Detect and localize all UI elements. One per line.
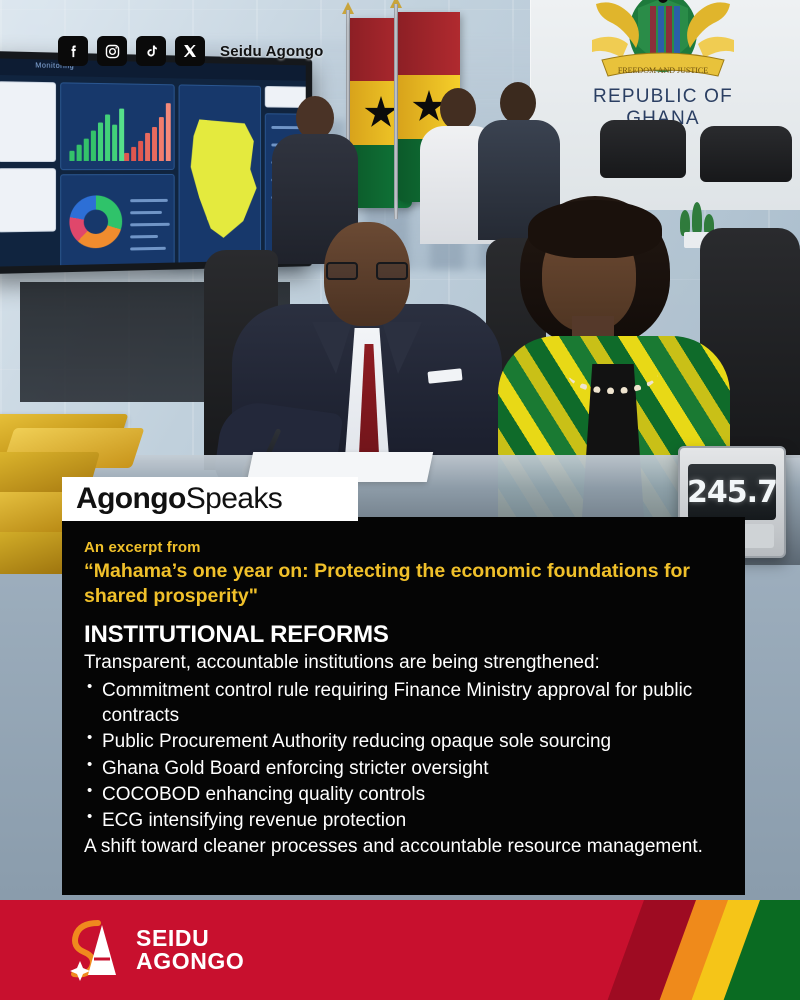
eyeglasses-icon xyxy=(326,262,408,280)
dashboard-donut-card xyxy=(60,174,175,268)
seidu-agongo-logo: SEIDU AGONGO xyxy=(58,916,378,984)
tiktok-glyph xyxy=(143,43,160,60)
donut-chart xyxy=(69,195,122,248)
list-item: Commitment control rule requiring Financ… xyxy=(84,678,723,729)
dashboard-side-card xyxy=(0,81,56,162)
x-twitter-icon[interactable] xyxy=(175,36,205,66)
instagram-icon[interactable] xyxy=(97,36,127,66)
x-glyph xyxy=(182,43,198,59)
back-chair-2 xyxy=(700,126,792,182)
closing-statement: A shift toward cleaner processes and acc… xyxy=(84,835,723,860)
brand-light: Speaks xyxy=(186,482,282,516)
content-panel: An excerpt from “Mahama’s one year on: P… xyxy=(62,517,745,895)
logo-svg xyxy=(58,919,126,981)
excerpt-title: “Mahama’s one year on: Protecting the ec… xyxy=(84,559,723,608)
meter-lcd: 245.7 xyxy=(688,464,776,520)
brand-bold: Agongo xyxy=(76,482,186,516)
reform-bullet-list: Commitment control rule requiring Financ… xyxy=(84,678,723,834)
logo-mark-icon xyxy=(58,919,126,981)
section-intro: Transparent, accountable institutions ar… xyxy=(84,651,723,676)
tiktok-icon[interactable] xyxy=(136,36,166,66)
list-item: ECG intensifying revenue protection xyxy=(84,808,723,833)
excerpt-label: An excerpt from xyxy=(84,539,723,556)
pearl-necklace xyxy=(568,354,658,394)
footer-bar: SEIDU AGONGO xyxy=(0,900,800,1000)
logo-line-2: AGONGO xyxy=(136,950,244,973)
agongo-speaks-banner: AgongoSpeaks xyxy=(62,477,358,521)
black-star-icon xyxy=(364,96,398,130)
instagram-glyph xyxy=(104,43,121,60)
svg-text:FREEDOM AND JUSTICE: FREEDOM AND JUSTICE xyxy=(618,66,708,75)
section-heading: INSTITUTIONAL REFORMS xyxy=(84,621,723,649)
social-bar: Seidu Agongo xyxy=(58,36,324,66)
dashboard-bar-card xyxy=(60,82,175,170)
meter-value: 245.7 xyxy=(687,475,777,510)
dashboard-side-card-2 xyxy=(0,168,56,232)
social-handle: Seidu Agongo xyxy=(220,43,324,60)
list-item: Public Procurement Authority reducing op… xyxy=(84,729,723,754)
list-item: Ghana Gold Board enforcing stricter over… xyxy=(84,756,723,781)
list-item: COCOBOD enhancing quality controls xyxy=(84,782,723,807)
logo-line-1: SEIDU xyxy=(136,927,244,950)
poster-root: FREEDOM AND JUSTICE REPUBLIC OF GHANA Mo… xyxy=(0,0,800,1000)
facebook-glyph xyxy=(65,43,82,60)
facebook-icon[interactable] xyxy=(58,36,88,66)
back-chair-1 xyxy=(600,120,686,178)
